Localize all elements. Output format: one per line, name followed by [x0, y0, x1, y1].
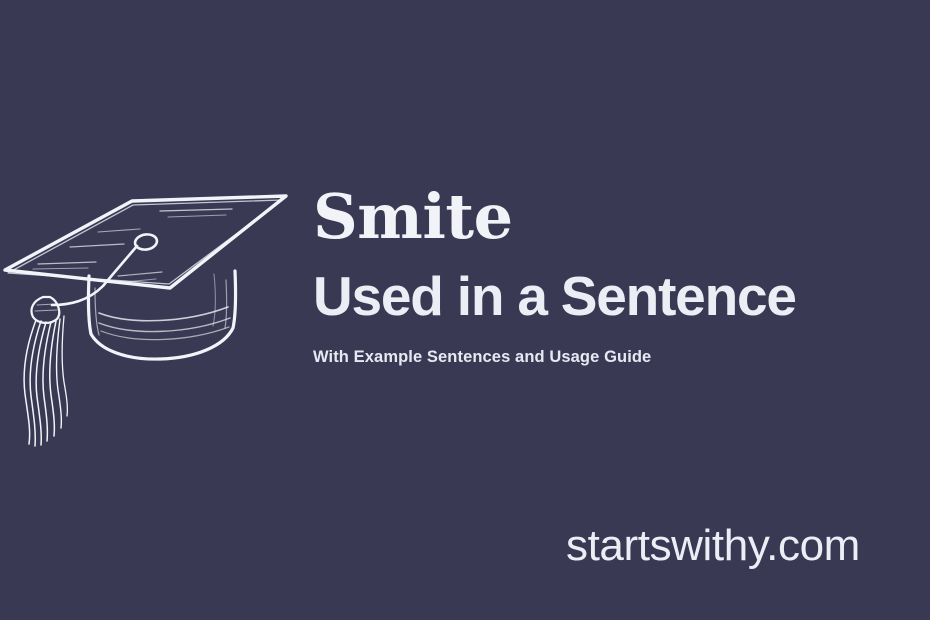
page-title: Used in a Sentence [313, 268, 913, 325]
word-mark: Smite [313, 186, 913, 248]
graduation-cap-icon [0, 168, 290, 453]
headline-block: Smite Used in a Sentence With Example Se… [313, 186, 913, 369]
site-domain-label: startswithy.com [566, 524, 860, 568]
page-subtitle: With Example Sentences and Usage Guide [313, 347, 913, 368]
word-definition-banner: Smite Used in a Sentence With Example Se… [0, 0, 930, 620]
